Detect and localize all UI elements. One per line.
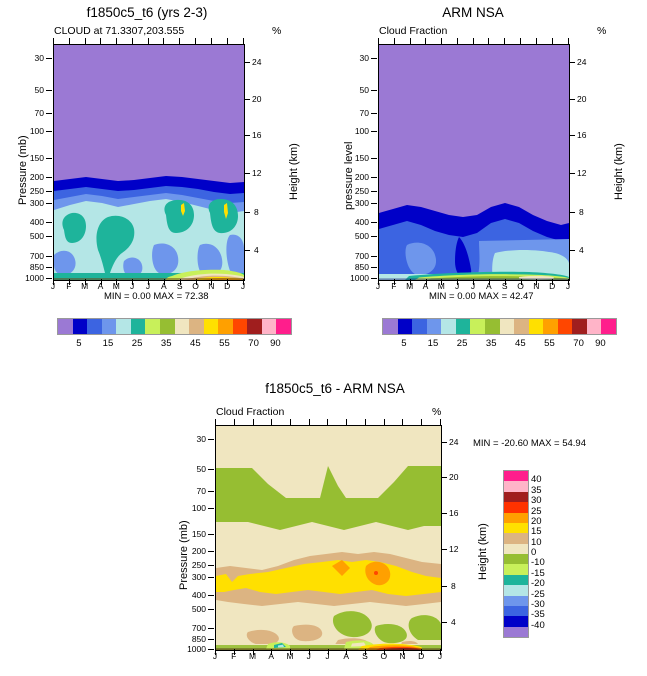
htick: 8 <box>451 581 456 591</box>
panel-model-minmax: MIN = 0.00 MAX = 72.38 <box>104 291 209 302</box>
colorbar-tick-label: 0 <box>531 547 536 558</box>
ptick: 150 <box>176 529 206 539</box>
colorbar-tick-label: 25 <box>531 506 542 517</box>
ptick: 50 <box>339 85 369 95</box>
ptick: 100 <box>176 503 206 513</box>
month-label: N <box>396 651 410 661</box>
colorbar-cell <box>504 554 528 564</box>
ptick: 250 <box>339 186 369 196</box>
colorbar-cell <box>504 544 528 554</box>
ptick: 70 <box>14 108 44 118</box>
htick: 4 <box>254 245 259 255</box>
panel-obs-contours <box>379 45 569 280</box>
ptick: 50 <box>14 85 44 95</box>
month-label: M <box>246 651 260 661</box>
colorbar-tick-label: 10 <box>531 537 542 548</box>
month-label: F <box>387 281 401 291</box>
colorbar-cell <box>504 523 528 533</box>
colorbar-tick-label: -15 <box>531 568 545 579</box>
colorbar-tick-label: -40 <box>531 620 545 631</box>
ptick: 150 <box>339 153 369 163</box>
panel-obs-subtitle: Cloud Fraction <box>379 25 447 37</box>
htick: 20 <box>577 94 586 104</box>
colorbar-cell <box>504 596 528 606</box>
colorbar-tick-label: 5 <box>394 338 414 349</box>
colorbar-tick-label: 30 <box>531 495 542 506</box>
month-label: S <box>173 281 187 291</box>
ptick: 300 <box>176 572 206 582</box>
colorbar-cell <box>58 319 73 334</box>
month-label: S <box>498 281 512 291</box>
colorbar-cell <box>412 319 427 334</box>
colorbar-tick-label: 15 <box>98 338 118 349</box>
panel-obs-minmax: MIN = 0.00 MAX = 42.47 <box>429 291 534 302</box>
colorbar-cell <box>558 319 573 334</box>
month-label: O <box>189 281 203 291</box>
colorbar-cell <box>441 319 456 334</box>
ptick: 850 <box>14 262 44 272</box>
colorbar-cell <box>504 533 528 543</box>
colorbar-tick-label: -10 <box>531 557 545 568</box>
panel-difference-contours <box>216 426 441 650</box>
ptick: 50 <box>176 464 206 474</box>
colorbar-cell <box>247 319 262 334</box>
colorbar-cell <box>504 481 528 491</box>
month-label: A <box>339 651 353 661</box>
htick: 12 <box>449 544 458 554</box>
colorbar-cell <box>427 319 442 334</box>
month-label: A <box>482 281 496 291</box>
colorbar-difference[interactable] <box>503 470 529 638</box>
colorbar-cell <box>116 319 131 334</box>
colorbar-tick-label: -20 <box>531 578 545 589</box>
colorbar-cell <box>160 319 175 334</box>
colorbar-tick-label: 5 <box>69 338 89 349</box>
panel-difference-plot <box>215 425 442 651</box>
htick: 16 <box>449 508 458 518</box>
colorbar-tick-label: 15 <box>531 526 542 537</box>
month-label: N <box>204 281 218 291</box>
month-label: M <box>403 281 417 291</box>
colorbar-cell <box>175 319 190 334</box>
month-label: A <box>157 281 171 291</box>
colorbar-tick-label: 35 <box>531 485 542 496</box>
colorbar-cell <box>504 502 528 512</box>
htick: 4 <box>579 245 584 255</box>
colorbar-model[interactable] <box>57 318 292 335</box>
ptick: 850 <box>339 262 369 272</box>
month-label: J <box>371 281 385 291</box>
month-label: A <box>419 281 433 291</box>
ptick: 500 <box>14 231 44 241</box>
month-label: O <box>514 281 528 291</box>
colorbar-cell <box>204 319 219 334</box>
panel-obs-units: % <box>597 25 606 37</box>
ptick: 250 <box>14 186 44 196</box>
colorbar-cell <box>500 319 515 334</box>
colorbar-cell <box>504 575 528 585</box>
panel-difference-minmax: MIN = -20.60 MAX = 54.94 <box>473 438 586 449</box>
panel-model-contours <box>54 45 244 280</box>
panel-model-title: f1850c5_t6 (yrs 2-3) <box>52 5 242 20</box>
htick: 20 <box>449 472 458 482</box>
ptick: 500 <box>339 231 369 241</box>
colorbar-cell <box>145 319 160 334</box>
colorbar-cell <box>504 627 528 637</box>
ptick: 700 <box>14 251 44 261</box>
colorbar-cell <box>189 319 204 334</box>
panel-obs-plot <box>378 44 570 281</box>
colorbar-tick-label: 25 <box>127 338 147 349</box>
colorbar-cell <box>543 319 558 334</box>
htick: 8 <box>254 207 259 217</box>
htick: 8 <box>579 207 584 217</box>
panel-model-plot <box>53 44 245 281</box>
month-label: J <box>321 651 335 661</box>
panel-difference-ylabel-right: Height (km) <box>477 523 489 580</box>
colorbar-tick-label: 55 <box>539 338 559 349</box>
colorbar-cell <box>276 319 291 334</box>
panel-model-units: % <box>272 25 281 37</box>
colorbar-cell <box>456 319 471 334</box>
ptick: 700 <box>339 251 369 261</box>
htick: 20 <box>252 94 261 104</box>
colorbar-cell <box>504 585 528 595</box>
colorbar-cell <box>383 319 398 334</box>
month-label: A <box>264 651 278 661</box>
colorbar-cell <box>504 616 528 626</box>
ptick: 200 <box>14 172 44 182</box>
colorbar-tick-label: 55 <box>214 338 234 349</box>
colorbar-cell <box>87 319 102 334</box>
ptick: 1000 <box>336 273 369 283</box>
month-label: M <box>78 281 92 291</box>
ptick: 30 <box>339 53 369 63</box>
month-label: S <box>358 651 372 661</box>
month-label: J <box>236 281 250 291</box>
panel-difference-subtitle: Cloud Fraction <box>216 406 284 418</box>
ptick: 1000 <box>173 644 206 654</box>
ptick: 1000 <box>11 273 44 283</box>
colorbar-tick-label: 45 <box>510 338 530 349</box>
htick: 24 <box>449 437 458 447</box>
panel-obs-title: ARM NSA <box>378 5 568 20</box>
htick: 12 <box>577 168 586 178</box>
colorbar-tick-label: 45 <box>185 338 205 349</box>
colorbar-cell <box>514 319 529 334</box>
month-label: F <box>227 651 241 661</box>
colorbar-cell <box>504 471 528 481</box>
colorbar-cell <box>233 319 248 334</box>
ptick: 70 <box>339 108 369 118</box>
month-label: M <box>434 281 448 291</box>
ptick: 850 <box>176 634 206 644</box>
colorbar-cell <box>504 564 528 574</box>
htick: 4 <box>451 617 456 627</box>
month-label: J <box>125 281 139 291</box>
month-label: M <box>283 651 297 661</box>
htick: 16 <box>577 130 586 140</box>
colorbar-cell <box>572 319 587 334</box>
colorbar-cell <box>73 319 88 334</box>
ptick: 400 <box>339 217 369 227</box>
month-label: J <box>302 651 316 661</box>
colorbar-tick-label: 90 <box>265 338 285 349</box>
ptick: 30 <box>14 53 44 63</box>
ptick: 30 <box>176 434 206 444</box>
ptick: 200 <box>339 172 369 182</box>
colorbar-tick-label: 70 <box>244 338 264 349</box>
colorbar-tick-label: -25 <box>531 589 545 600</box>
colorbar-tick-label: 40 <box>531 474 542 485</box>
month-label: A <box>94 281 108 291</box>
colorbar-tick-label: 15 <box>423 338 443 349</box>
month-label: J <box>141 281 155 291</box>
month-label: J <box>466 281 480 291</box>
colorbar-tick-label: -30 <box>531 599 545 610</box>
month-label: J <box>208 651 222 661</box>
colorbar-cell <box>529 319 544 334</box>
colorbar-tick-label: 90 <box>590 338 610 349</box>
month-label: J <box>46 281 60 291</box>
panel-difference-units: % <box>432 406 441 418</box>
month-label: D <box>220 281 234 291</box>
ptick: 500 <box>176 604 206 614</box>
ptick: 200 <box>176 546 206 556</box>
ptick: 250 <box>176 560 206 570</box>
ptick: 400 <box>176 590 206 600</box>
ptick: 300 <box>14 198 44 208</box>
colorbar-cell <box>262 319 277 334</box>
colorbar-tick-label: 35 <box>156 338 176 349</box>
colorbar-tick-label: 20 <box>531 516 542 527</box>
panel-model-ylabel-right: Height (km) <box>288 143 300 200</box>
colorbar-cell <box>504 492 528 502</box>
month-label: J <box>450 281 464 291</box>
month-label: J <box>433 651 447 661</box>
htick: 24 <box>577 57 586 67</box>
ptick: 150 <box>14 153 44 163</box>
month-label: M <box>109 281 123 291</box>
ptick: 100 <box>14 126 44 136</box>
month-label: N <box>529 281 543 291</box>
colorbar-cell <box>398 319 413 334</box>
colorbar-cell <box>504 513 528 523</box>
colorbar-obs[interactable] <box>382 318 617 335</box>
month-label: O <box>377 651 391 661</box>
ptick: 100 <box>339 126 369 136</box>
ptick: 400 <box>14 217 44 227</box>
htick: 12 <box>252 168 261 178</box>
htick: 16 <box>252 130 261 140</box>
colorbar-tick-label: -35 <box>531 609 545 620</box>
colorbar-cell <box>601 319 616 334</box>
colorbar-cell <box>218 319 233 334</box>
month-label: D <box>414 651 428 661</box>
panel-obs-ylabel-right: Height (km) <box>613 143 625 200</box>
colorbar-tick-label: 25 <box>452 338 472 349</box>
month-label: J <box>561 281 575 291</box>
colorbar-cell <box>504 606 528 616</box>
ptick: 300 <box>339 198 369 208</box>
colorbar-cell <box>485 319 500 334</box>
colorbar-tick-label: 35 <box>481 338 501 349</box>
htick: 24 <box>252 57 261 67</box>
colorbar-cell <box>470 319 485 334</box>
panel-difference-title: f1850c5_t6 - ARM NSA <box>215 381 455 396</box>
colorbar-cell <box>102 319 117 334</box>
colorbar-cell <box>587 319 602 334</box>
month-label: D <box>545 281 559 291</box>
ptick: 70 <box>176 486 206 496</box>
colorbar-tick-label: 70 <box>569 338 589 349</box>
colorbar-cell <box>131 319 146 334</box>
ptick: 700 <box>176 623 206 633</box>
panel-model-subtitle: CLOUD at 71.3307,203.555 <box>54 25 184 37</box>
month-label: F <box>62 281 76 291</box>
